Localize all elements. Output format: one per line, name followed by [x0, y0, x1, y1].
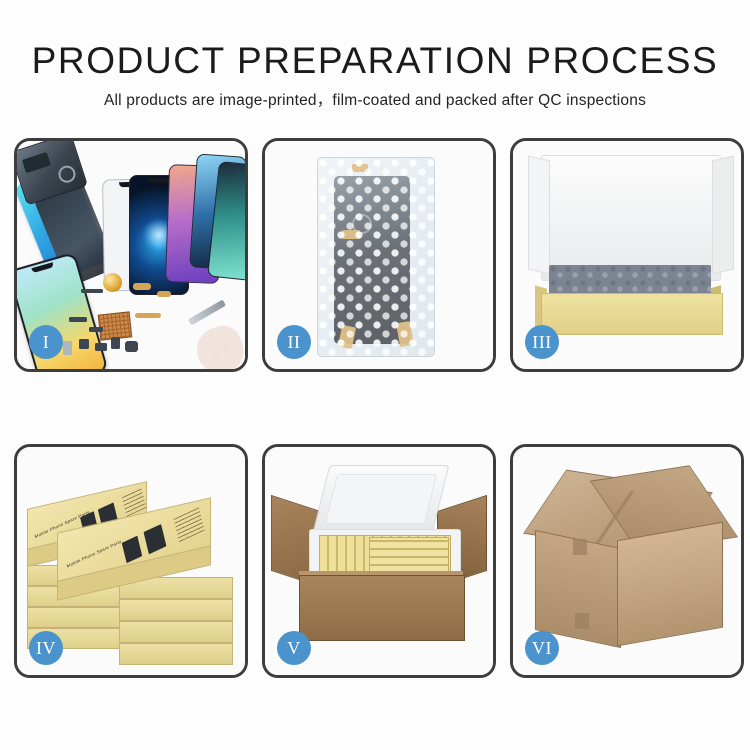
carton-seam [575, 613, 589, 629]
step-panel: V [262, 444, 496, 678]
notch [31, 262, 54, 273]
step-badge-6: VI [525, 631, 559, 665]
process-step-grid: I II [0, 138, 750, 698]
small-part [63, 341, 72, 355]
box-front-panel [541, 293, 723, 335]
white-foam-lid [541, 155, 721, 281]
small-part [69, 317, 87, 322]
tweezers-tool [188, 299, 226, 325]
carton-right-face [617, 522, 723, 647]
box-screen-image [144, 524, 167, 554]
speaker-module [103, 273, 122, 292]
bubble-wrap-package [317, 157, 435, 357]
page-title: PRODUCT PREPARATION PROCESS [0, 40, 750, 82]
step-panel: Mobile Phone Spare Parts Mobile Phone Sp… [14, 444, 248, 678]
process-step-4: Mobile Phone Spare Parts Mobile Phone Sp… [14, 444, 248, 678]
small-part [95, 343, 107, 351]
process-step-3: III [510, 138, 744, 372]
carton-body [299, 575, 465, 641]
step-badge-5: V [277, 631, 311, 665]
stacked-box [119, 599, 233, 621]
step-badge-2: II [277, 325, 311, 359]
flex-cable-part [157, 291, 171, 297]
box-text-lines [173, 506, 204, 542]
process-step-5: V [262, 444, 496, 678]
carton-seam [573, 539, 587, 555]
page-subtitle: All products are image-printed，film-coat… [0, 88, 750, 110]
step-panel: I [14, 138, 248, 372]
notch [148, 178, 170, 183]
step-panel: III [510, 138, 744, 372]
camera-module-part [125, 341, 138, 352]
flex-cable-part [133, 283, 151, 290]
box-stack: Mobile Phone Spare Parts Mobile Phone Sp… [27, 473, 237, 663]
stacked-box [27, 607, 133, 628]
process-step-1: I [14, 138, 248, 372]
product-preparation-infographic: PRODUCT PREPARATION PROCESS All products… [0, 0, 750, 750]
process-step-2: II [262, 138, 496, 372]
stacked-box [119, 621, 233, 643]
small-part [89, 327, 103, 332]
step-badge-1: I [29, 325, 63, 359]
process-step-6: VI [510, 444, 744, 678]
step-badge-4: IV [29, 631, 63, 665]
small-part [111, 337, 120, 349]
flex-cable-part [135, 313, 161, 318]
box-screen-image [122, 536, 143, 563]
step-panel: VI [510, 444, 744, 678]
hand [191, 321, 248, 372]
step-badge-3: III [525, 325, 559, 359]
header: PRODUCT PREPARATION PROCESS All products… [0, 0, 750, 128]
stacked-box [119, 643, 233, 665]
small-part [81, 289, 103, 293]
small-part [79, 339, 89, 349]
box-label: Mobile Phone Spare Parts [66, 539, 122, 569]
foam-lid [313, 465, 450, 533]
step-panel: II [262, 138, 496, 372]
bubble-texture [318, 158, 434, 356]
